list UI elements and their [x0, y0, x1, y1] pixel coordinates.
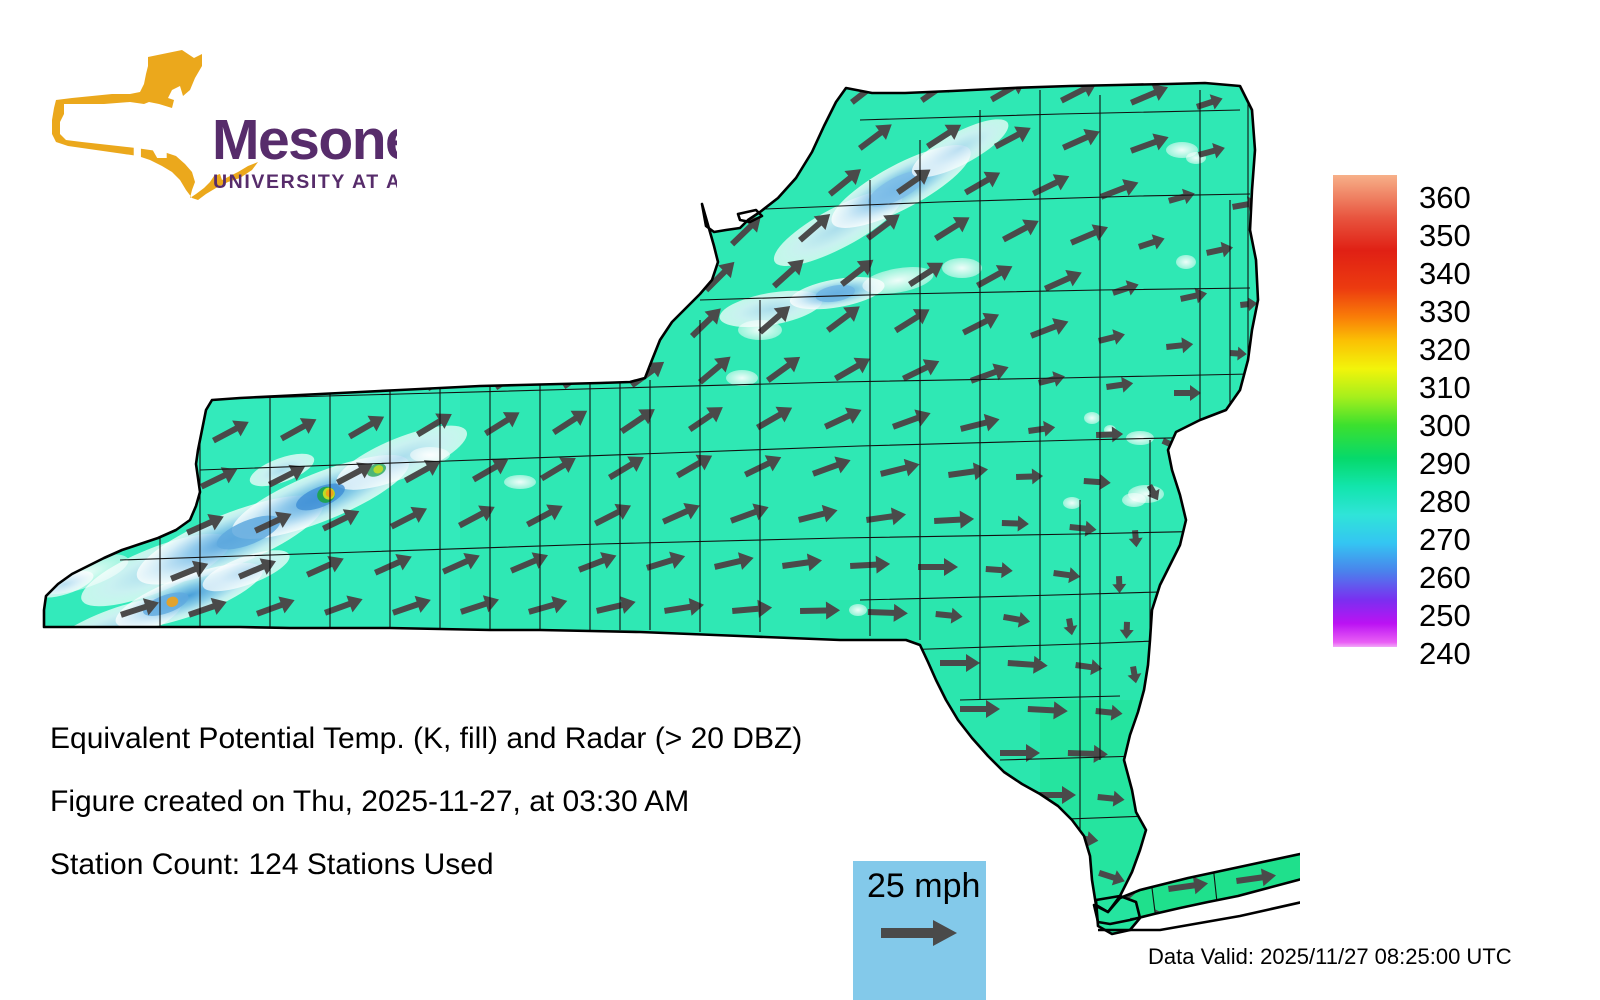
- colorbar-tick-280: 280: [1419, 486, 1471, 517]
- colorbar-tick-260: 260: [1419, 562, 1471, 593]
- colorbar-gradient: [1333, 175, 1397, 647]
- colorbar-tick-330: 330: [1419, 296, 1471, 327]
- caption-station-count: Station Count: 124 Stations Used: [50, 848, 494, 882]
- colorbar-tick-250: 250: [1419, 600, 1471, 631]
- colorbar-tick-350: 350: [1419, 220, 1471, 251]
- colorbar-tick-240: 240: [1419, 638, 1471, 669]
- colorbar-tick-360: 360: [1419, 182, 1471, 213]
- data-valid-timestamp: Data Valid: 2025/11/27 08:25:00 UTC: [1148, 944, 1512, 970]
- colorbar-tick-310: 310: [1419, 372, 1471, 403]
- caption-created-time: Figure created on Thu, 2025-11-27, at 03…: [50, 785, 689, 819]
- colorbar-tick-320: 320: [1419, 334, 1471, 365]
- wind-scale-label: 25 mph: [867, 867, 980, 906]
- colorbar-tick-340: 340: [1419, 258, 1471, 289]
- right-arrow-icon: [881, 919, 961, 949]
- caption-title: Equivalent Potential Temp. (K, fill) and…: [50, 722, 802, 756]
- colorbar-tick-300: 300: [1419, 410, 1471, 441]
- wind-scale-legend: 25 mph: [853, 861, 986, 1000]
- colorbar-tick-290: 290: [1419, 448, 1471, 479]
- colorbar: 360 350 340 330 320 310 300 290 280 270 …: [1333, 175, 1573, 647]
- colorbar-tick-270: 270: [1419, 524, 1471, 555]
